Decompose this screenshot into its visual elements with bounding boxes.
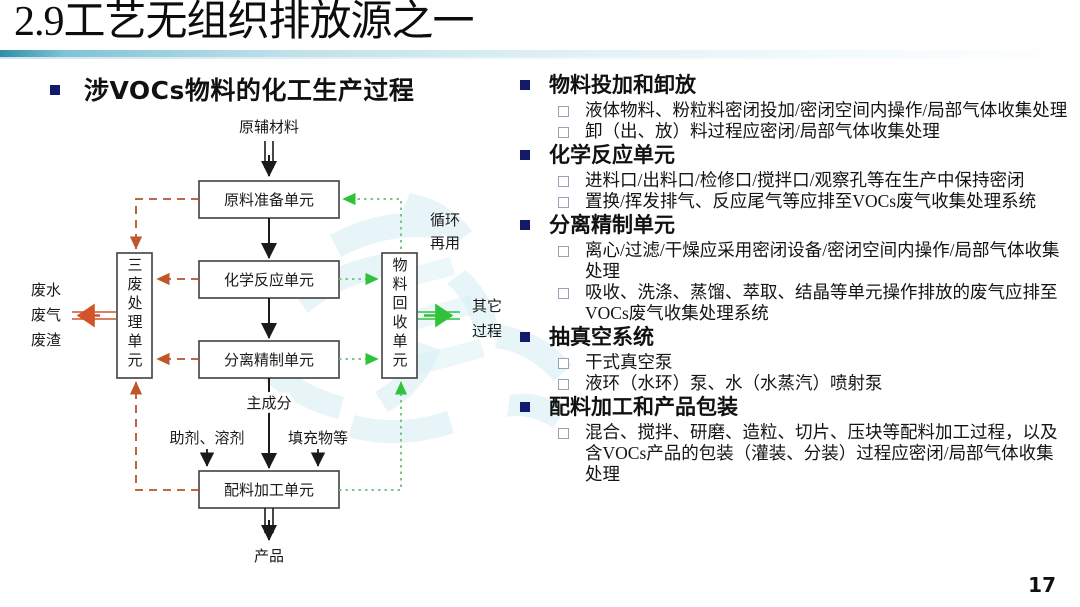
diagram-label-waste-1: 废水 <box>31 282 61 299</box>
bullet-square-icon <box>520 80 530 90</box>
flow-recycle-to-raw-prep <box>343 199 401 249</box>
hollow-square-icon <box>558 246 569 257</box>
hollow-square-icon <box>558 358 569 369</box>
diagram-label-additives: 助剂、溶剂 <box>169 430 244 447</box>
box-raw-prep-label: 原料准备单元 <box>224 192 314 209</box>
svg-text:单: 单 <box>392 333 407 350</box>
svg-text:元: 元 <box>127 353 142 369</box>
hollow-square-icon <box>558 288 569 299</box>
sub-item: 液体物料、粉粒料密闭投加/密闭空间内操作/局部气体收集处理 <box>558 100 1070 121</box>
diagram-label-waste-3: 废渣 <box>31 332 61 349</box>
sub-item-text: 进料口/出料口/检修口/搅拌口/观察孔等在生产中保持密闭 <box>585 170 1024 191</box>
diagram-label-fillers: 填充物等 <box>288 429 348 447</box>
bullet-square-icon <box>520 220 530 230</box>
bullet-square-icon <box>520 150 530 160</box>
title-divider <box>0 50 1080 57</box>
section-title: 配料加工和产品包装 <box>549 394 738 421</box>
sub-item-text: 置换/挥发排气、反应尾气等应排至VOCs废气收集处理系统 <box>585 191 1036 212</box>
left-heading-label: 涉VOCs物料的化工生产过程 <box>84 77 414 105</box>
diagram-label-other-1: 其它 <box>472 297 502 315</box>
page-number: 17 <box>1028 573 1056 597</box>
flow-waste-from-raw-prep <box>136 199 199 249</box>
title-divider-thin <box>0 57 1080 59</box>
hollow-square-icon <box>558 428 569 439</box>
box-separation-label: 分离精制单元 <box>224 352 314 369</box>
sub-item: 吸收、洗涤、蒸馏、萃取、结晶等单元操作排放的废气应排至VOCs废气收集处理系统 <box>558 282 1070 324</box>
svg-text:处: 处 <box>127 295 142 312</box>
sub-item-text: 液环（水环）泵、水（水蒸汽）喷射泵 <box>585 373 883 394</box>
diagram-label-recycle-1: 循环 <box>430 212 460 229</box>
section-title: 抽真空系统 <box>549 324 654 351</box>
sub-item-text: 液体物料、粉粒料密闭投加/密闭空间内操作/局部气体收集处理 <box>585 100 1067 121</box>
flow-recovery-from-blending <box>339 382 401 490</box>
svg-text:理: 理 <box>127 315 142 331</box>
section-title: 物料投加和卸放 <box>549 72 696 99</box>
left-section-heading: 涉VOCs物料的化工生产过程 <box>50 77 414 105</box>
hollow-square-icon <box>558 106 569 117</box>
bullet-square-icon <box>50 85 60 95</box>
box-chemical-reaction-label: 化学反应单元 <box>224 271 314 289</box>
slide-title: 2.9工艺无组织排放源之一 <box>14 0 474 46</box>
slide-root: 2.9工艺无组织排放源之一 涉VOCs物料的化工生产过程 <box>0 0 1080 607</box>
section-heading: 抽真空系统 <box>520 324 1070 351</box>
sub-item: 干式真空泵 <box>558 352 1070 373</box>
svg-text:回: 回 <box>392 295 407 312</box>
sub-item-text: 卸（出、放）料过程应密闭/局部气体收集处理 <box>585 121 940 142</box>
section-heading: 物料投加和卸放 <box>520 72 1070 99</box>
diagram-label-main-component: 主成分 <box>246 395 291 412</box>
section-heading: 化学反应单元 <box>520 142 1070 169</box>
section-heading: 配料加工和产品包装 <box>520 394 1070 421</box>
sub-item-text: 干式真空泵 <box>585 352 673 373</box>
diagram-label-other-2: 过程 <box>472 323 502 340</box>
sub-item: 卸（出、放）料过程应密闭/局部气体收集处理 <box>558 121 1070 142</box>
svg-text:元: 元 <box>392 353 407 369</box>
diagram-label-recycle-2: 再用 <box>430 236 460 252</box>
sub-item-text: 离心/过滤/干燥应采用密闭设备/密闭空间内操作/局部气体收集处理 <box>585 240 1070 282</box>
section-title: 分离精制单元 <box>549 212 675 239</box>
section-title: 化学反应单元 <box>549 142 675 169</box>
right-content-column: 物料投加和卸放 液体物料、粉粒料密闭投加/密闭空间内操作/局部气体收集处理 卸（… <box>520 72 1070 485</box>
diagram-label-product: 产品 <box>254 548 284 565</box>
section-heading: 分离精制单元 <box>520 212 1070 239</box>
bullet-square-icon <box>520 332 530 342</box>
diagram-label-input-material: 原辅材料 <box>239 119 299 136</box>
sub-item: 置换/挥发排气、反应尾气等应排至VOCs废气收集处理系统 <box>558 191 1070 212</box>
box-material-recovery-label: 物 <box>392 257 407 274</box>
svg-text:收: 收 <box>392 314 407 331</box>
hollow-square-icon <box>558 176 569 187</box>
sub-item: 混合、搅拌、研磨、造粒、切片、压块等配料加工过程，以及含VOCs产品的包装（灌装… <box>558 422 1070 485</box>
svg-text:废: 废 <box>127 276 142 293</box>
svg-text:料: 料 <box>392 276 407 293</box>
process-flow-diagram: 原辅材料 原料准备单元 化学反应单元 分离精制单元 配料加工单元 主成分 产品 … <box>0 108 515 568</box>
hollow-square-icon <box>558 379 569 390</box>
sub-item: 液环（水环）泵、水（水蒸汽）喷射泵 <box>558 373 1070 394</box>
sub-item-text: 吸收、洗涤、蒸馏、萃取、结晶等单元操作排放的废气应排至VOCs废气收集处理系统 <box>585 282 1070 324</box>
box-blending-label: 配料加工单元 <box>224 482 314 499</box>
sub-item: 离心/过滤/干燥应采用密闭设备/密闭空间内操作/局部气体收集处理 <box>558 240 1070 282</box>
hollow-square-icon <box>558 127 569 138</box>
box-waste-treatment-label: 三 <box>127 258 142 274</box>
diagram-label-waste-2: 废气 <box>31 307 61 324</box>
bullet-square-icon <box>520 402 530 412</box>
hollow-square-icon <box>558 197 569 208</box>
svg-text:单: 单 <box>127 333 142 350</box>
sub-item-text: 混合、搅拌、研磨、造粒、切片、压块等配料加工过程，以及含VOCs产品的包装（灌装… <box>585 422 1070 485</box>
sub-item: 进料口/出料口/检修口/搅拌口/观察孔等在生产中保持密闭 <box>558 170 1070 191</box>
